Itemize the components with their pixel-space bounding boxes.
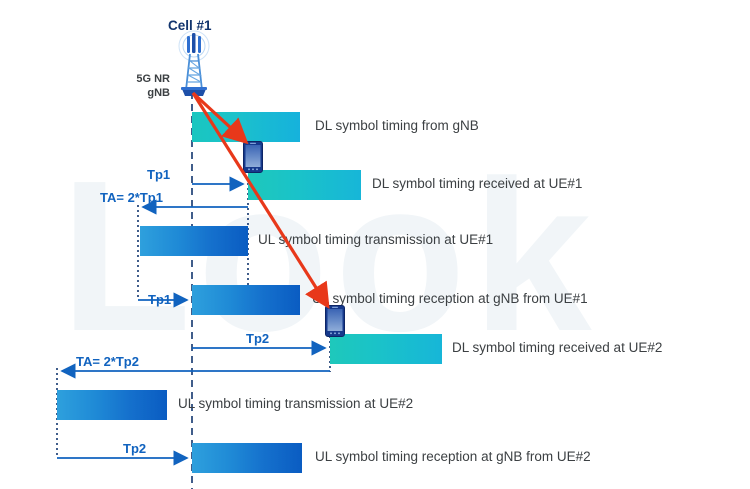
smartphone-icon-ue2 [325,305,345,337]
smartphone-icon-ue1 [243,141,263,173]
cell-tower-icon [173,30,215,98]
device-icons [0,0,750,489]
timing-advance-diagram: Look [0,0,750,489]
